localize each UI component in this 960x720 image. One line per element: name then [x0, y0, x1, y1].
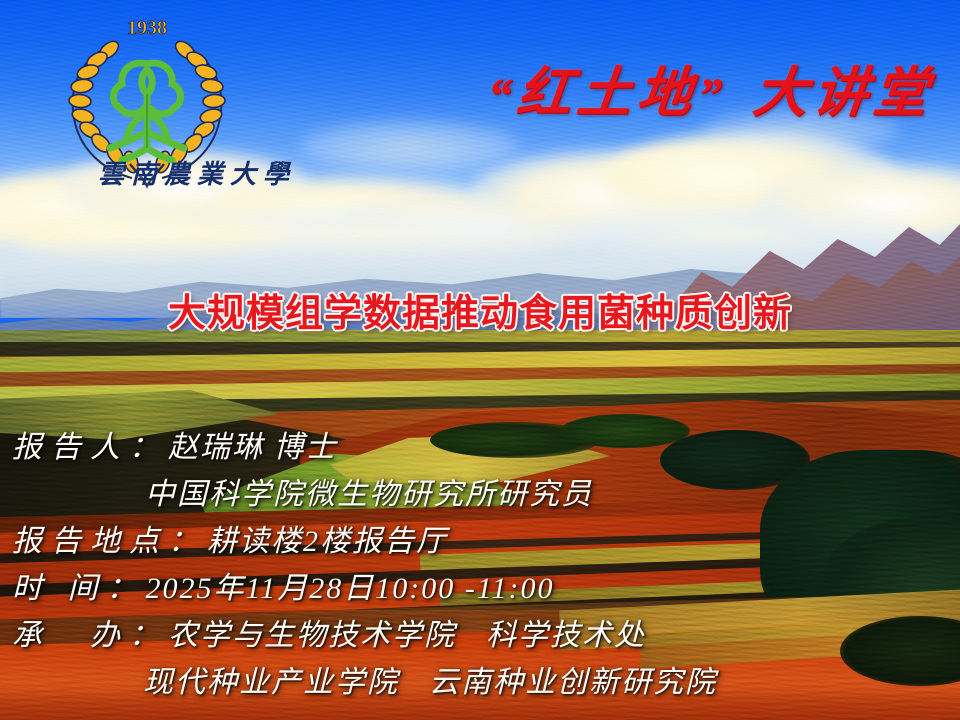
logo-year: 1938: [127, 17, 167, 39]
time-line: 时 间：2025年11月28日10:00 -11:00: [0, 565, 960, 612]
venue-value: 耕读楼2楼报告厅: [207, 525, 448, 558]
host-line-1: 承 办：农学与生物技术学院科学技术处: [0, 612, 960, 659]
speaker-name: 赵瑞琳 博士: [168, 431, 338, 464]
venue-label: 报告地点：: [12, 525, 207, 558]
host-org-1: 农学与生物技术学院: [168, 619, 456, 652]
venue-line: 报告地点：耕读楼2楼报告厅: [0, 518, 960, 565]
lecture-series-banner: “红土地”大讲堂: [484, 48, 938, 127]
banner-highlight: 红土地: [514, 63, 700, 123]
host-org-2: 科学技术处: [486, 619, 646, 652]
logo-university-name: 雲南農業大學: [82, 154, 312, 191]
university-logo: 1938: [52, 8, 242, 198]
quote-close: ”: [694, 69, 730, 122]
speaker-affiliation: 中国科学院微生物研究所研究员: [145, 478, 593, 511]
time-value: 2025年11月28日10:00 -11:00: [146, 572, 555, 605]
lecture-title: 大规模组学数据推动食用菌种质创新: [0, 282, 960, 337]
speaker-label: 报告人：: [12, 431, 168, 464]
time-label: 时 间：: [12, 572, 146, 605]
speaker-affiliation-line: 中国科学院微生物研究所研究员: [0, 471, 960, 518]
host-org-4: 云南种业创新研究院: [429, 666, 717, 699]
host-label: 承 办：: [12, 619, 168, 652]
host-line-2: 现代种业产业学院云南种业创新研究院: [0, 659, 960, 706]
banner-suffix: 大讲堂: [750, 63, 936, 123]
speaker-line: 报告人：赵瑞琳 博士: [0, 424, 960, 471]
lecture-details: 报告人：赵瑞琳 博士 中国科学院微生物研究所研究员 报告地点：耕读楼2楼报告厅 …: [0, 424, 960, 706]
host-org-3: 现代种业产业学院: [143, 666, 399, 699]
poster-canvas: 1938: [0, 0, 960, 720]
